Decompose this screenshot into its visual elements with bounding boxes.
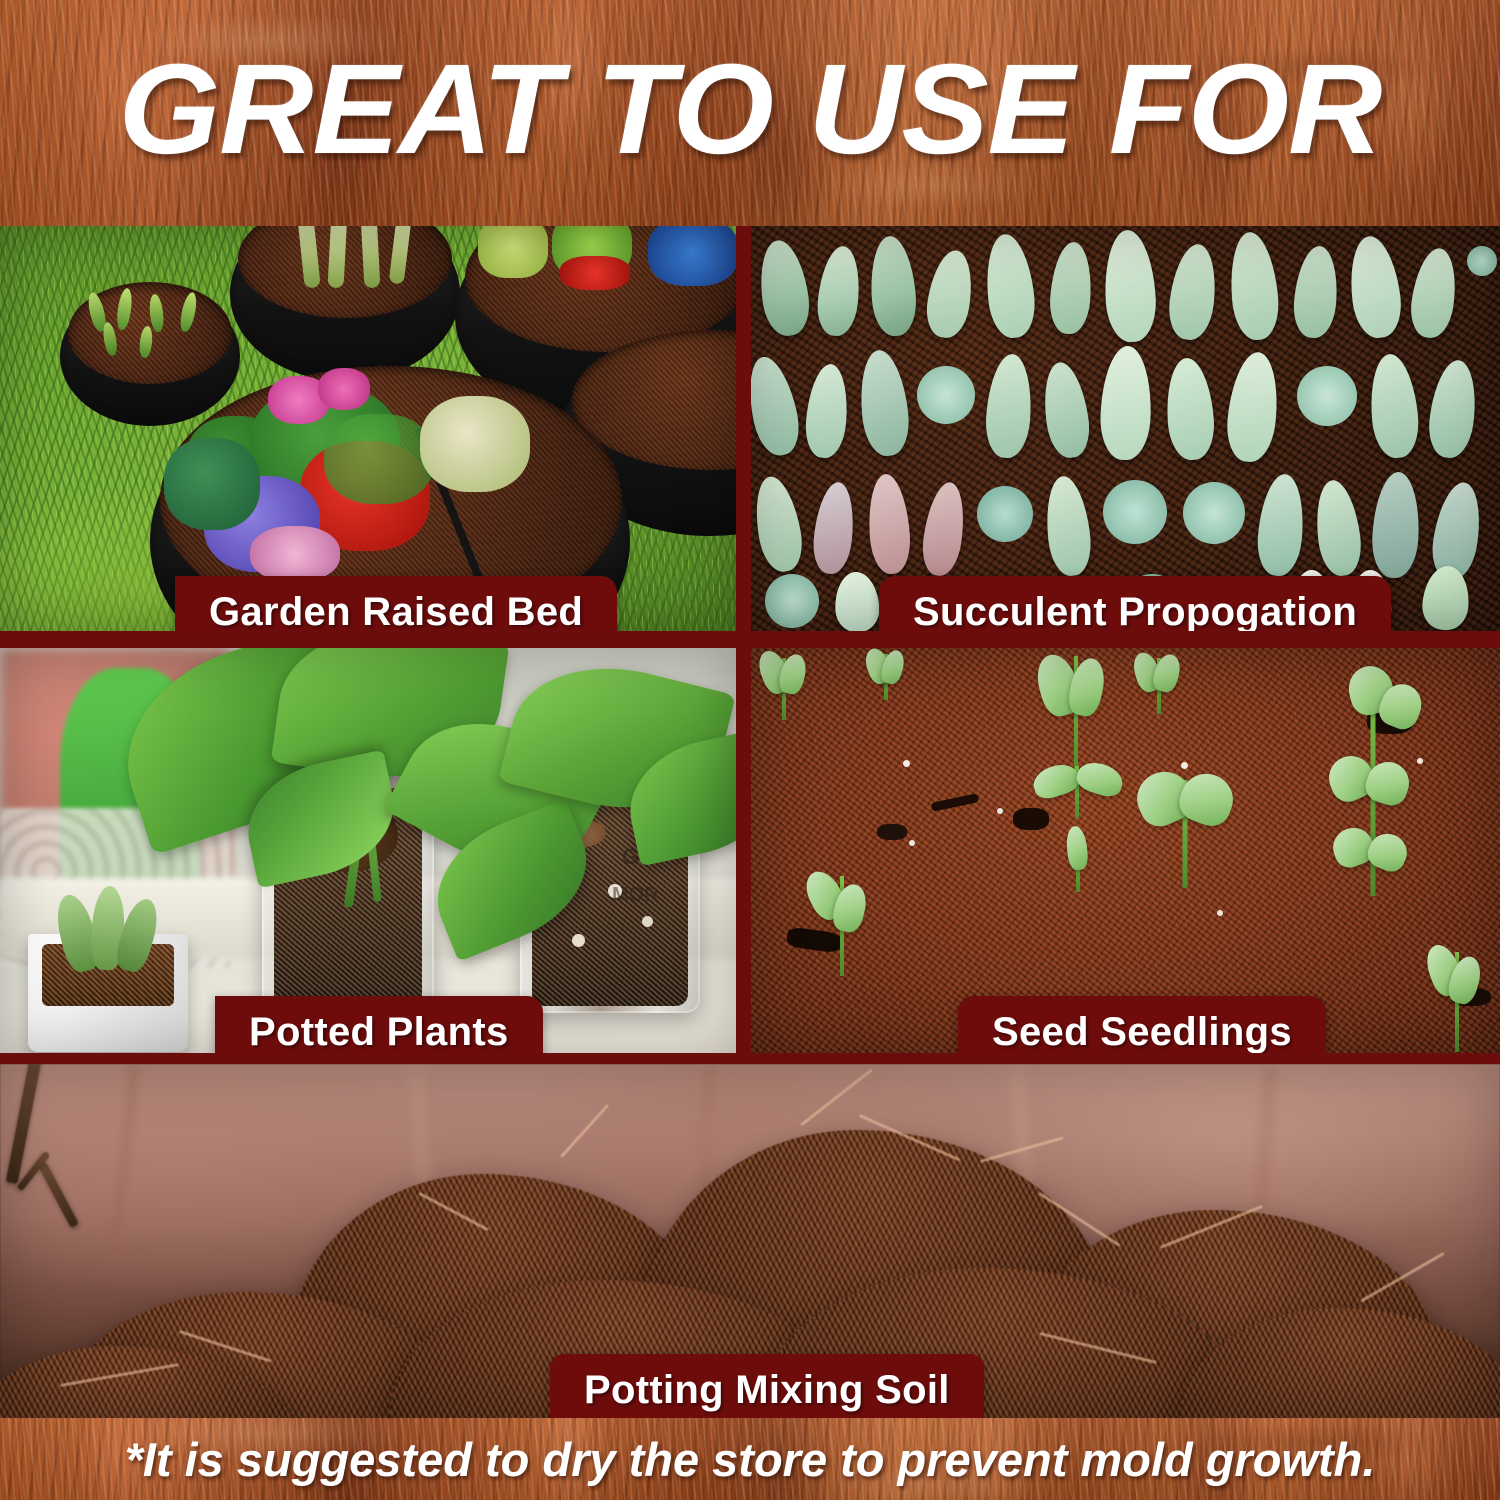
panel-grid: Garden Raised Bed [0,226,1500,1418]
panel-potted-plants[interactable]: GO MOR [0,648,736,1053]
potted-plants-photo: GO MOR [0,648,736,1053]
badge-succulent-propagation: Succulent Propogation [879,576,1391,631]
page-title-text: GREAT TO USE FOR [119,46,1382,180]
badge-potted-plants: Potted Plants [215,996,543,1053]
badge-potting-mixing-soil: Potting Mixing Soil [550,1354,984,1418]
badge-potted-plants-label: Potted Plants [249,1012,509,1052]
seed-seedlings-photo [751,648,1500,1053]
page-title: GREAT TO USE FOR [0,0,1500,226]
badge-seed-seedlings-label: Seed Seedlings [992,1012,1292,1052]
panel-seed-seedlings[interactable]: Seed Seedlings [751,648,1500,1053]
badge-succulent-propagation-label: Succulent Propogation [913,592,1357,631]
panel-succulent-propagation[interactable]: Succulent Propogation [751,226,1500,631]
badge-potting-mixing-soil-label: Potting Mixing Soil [584,1370,950,1410]
garden-raised-bed-photo [0,226,736,631]
footer-note-text: *It is suggested to dry the store to pre… [125,1436,1376,1483]
badge-garden-raised-bed-label: Garden Raised Bed [209,592,583,631]
panel-potting-mixing-soil[interactable]: Potting Mixing Soil [0,1064,1500,1418]
infographic-page: GREAT TO USE FOR [0,0,1500,1500]
header-banner: GREAT TO USE FOR [0,0,1500,226]
succulent-propagation-photo [751,226,1500,631]
footer-note: *It is suggested to dry the store to pre… [0,1418,1500,1500]
badge-garden-raised-bed: Garden Raised Bed [175,576,617,631]
panel-garden-raised-bed[interactable]: Garden Raised Bed [0,226,736,631]
footer-banner: *It is suggested to dry the store to pre… [0,1418,1500,1500]
badge-seed-seedlings: Seed Seedlings [958,996,1326,1053]
